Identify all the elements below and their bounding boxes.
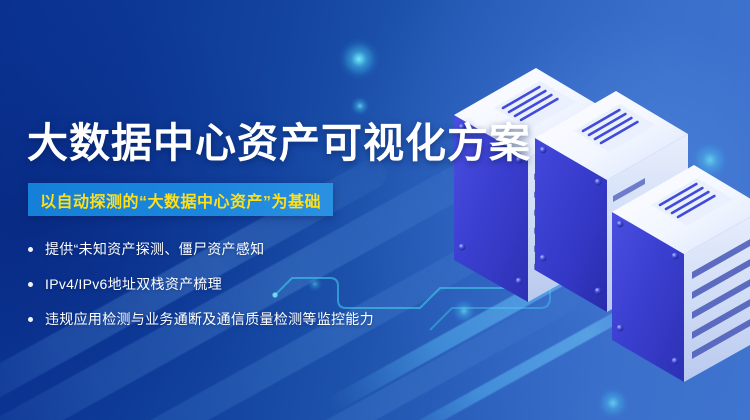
subtitle-banner: 以自动探测的“大数据中心资产”为基础 [28, 183, 333, 216]
screw-icon [617, 325, 624, 332]
screw-icon [516, 278, 523, 285]
screw-icon [617, 221, 624, 228]
list-item: 违规应用检测与业务通断及通信质量检测等监控能力 [28, 306, 448, 332]
screw-icon [595, 288, 602, 295]
bullet-dot-icon [28, 247, 33, 252]
screw-icon [672, 253, 679, 260]
list-item-label: IPv4/IPv6地址双栈资产梳理 [45, 274, 222, 294]
subtitle-text: 以自动探测的“大数据中心资产”为基础 [40, 188, 321, 212]
list-item: IPv4/IPv6地址双栈资产梳理 [28, 271, 448, 297]
banner-content: 大数据中心资产可视化方案 以自动探测的“大数据中心资产”为基础 提供“未知资产探… [0, 0, 470, 420]
screw-icon [540, 255, 547, 262]
bullet-dot-icon [28, 317, 33, 322]
list-item: 提供“未知资产探测、僵尸资产感知 [28, 236, 448, 262]
page-title: 大数据中心资产可视化方案 [27, 123, 531, 164]
list-item-label: 提供“未知资产探测、僵尸资产感知 [45, 239, 264, 259]
list-item-label: 违规应用检测与业务通断及通信质量检测等监控能力 [45, 309, 374, 329]
bullet-dot-icon [28, 282, 33, 287]
screw-icon [595, 179, 602, 186]
marketing-banner: 大数据中心资产可视化方案 以自动探测的“大数据中心资产”为基础 提供“未知资产探… [0, 0, 750, 420]
screw-icon [672, 358, 679, 365]
feature-bullet-list: 提供“未知资产探测、僵尸资产感知 IPv4/IPv6地址双栈资产梳理 违规应用检… [28, 236, 448, 341]
screw-icon [540, 147, 547, 154]
